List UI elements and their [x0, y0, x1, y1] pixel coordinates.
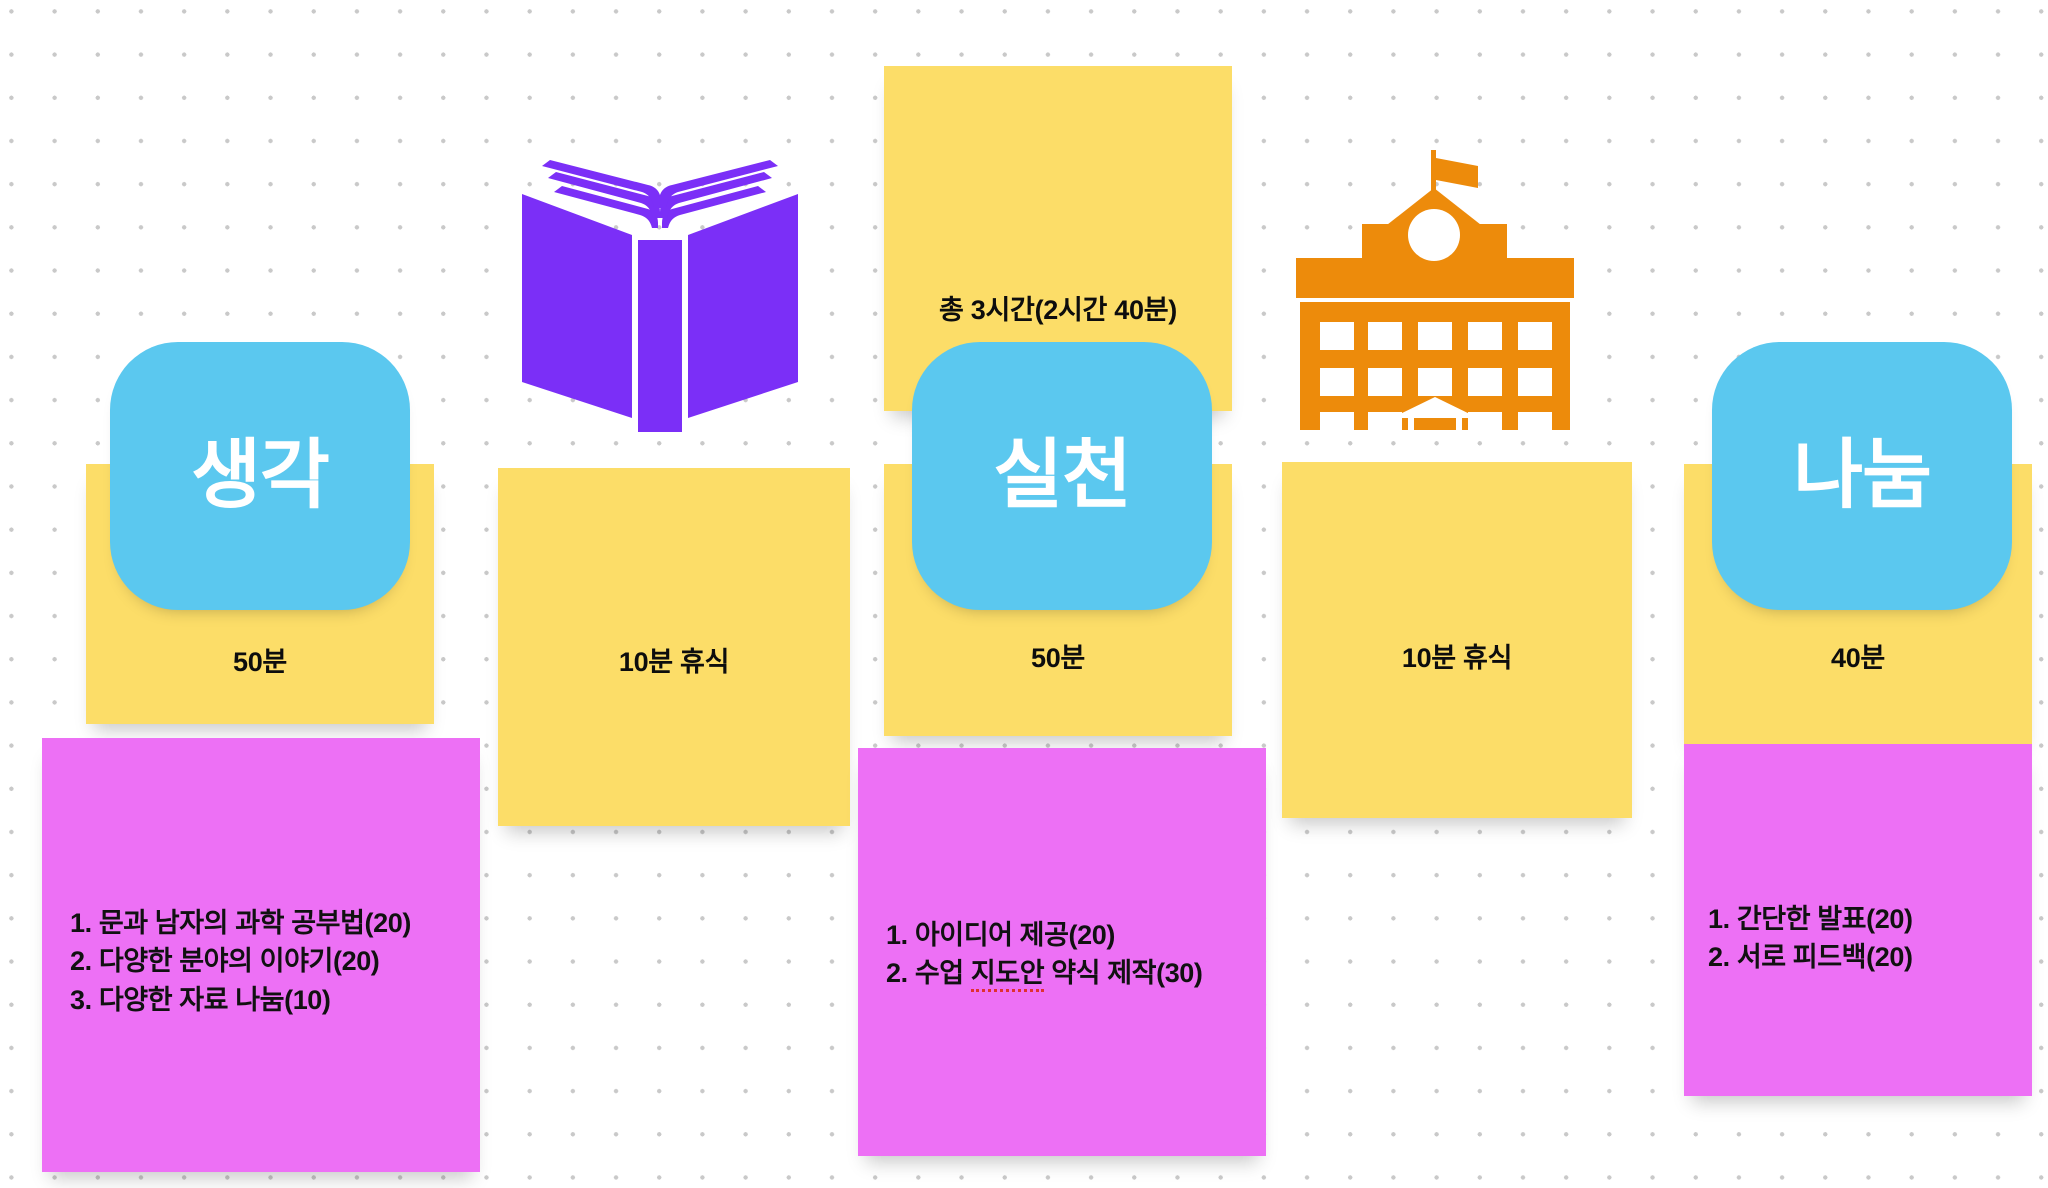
note-lines-3: 1. 아이디어 제공(20) 2. 수업 지도안 약식 제작(30): [886, 916, 1254, 993]
badge-sharing[interactable]: 나눔: [1712, 342, 2012, 610]
duration-label-3: 50분: [884, 636, 1232, 675]
note-card-3[interactable]: 1. 아이디어 제공(20) 2. 수업 지도안 약식 제작(30): [858, 748, 1266, 1156]
badge-label: 생각: [191, 438, 329, 514]
duration-label-5: 40분: [1684, 636, 2032, 675]
break-card-2[interactable]: 10분 휴식: [1282, 462, 1632, 818]
badge-label: 실천: [993, 438, 1131, 514]
duration-label-4: 10분 휴식: [1282, 636, 1632, 675]
total-duration-label: 총 3시간(2시간 40분): [884, 288, 1232, 327]
break-card-1[interactable]: 10분 휴식: [498, 468, 850, 826]
note-card-5[interactable]: 1. 간단한 발표(20) 2. 서로 피드백(20): [1684, 744, 2032, 1096]
badge-practice[interactable]: 실천: [912, 342, 1212, 610]
open-book-icon: [520, 160, 800, 435]
school-building-icon: [1290, 150, 1580, 430]
note-line: 1. 간단한 발표(20): [1708, 900, 2020, 938]
note-card-1[interactable]: 1. 문과 남자의 과학 공부법(20) 2. 다양한 분야의 이야기(20) …: [42, 738, 480, 1172]
note-line: 1. 문과 남자의 과학 공부법(20): [70, 904, 468, 942]
note-line: 2. 서로 피드백(20): [1708, 938, 2020, 976]
note-line-with-spellcheck: 2. 수업 지도안 약식 제작(30): [886, 954, 1254, 992]
note-line: 3. 다양한 자료 나눔(10): [70, 981, 468, 1019]
note-line: 1. 아이디어 제공(20): [886, 916, 1254, 954]
badge-thinking[interactable]: 생각: [110, 342, 410, 610]
note-lines-5: 1. 간단한 발표(20) 2. 서로 피드백(20): [1708, 900, 2020, 977]
note-line: 2. 다양한 분야의 이야기(20): [70, 942, 468, 980]
badge-label: 나눔: [1793, 438, 1931, 514]
note-line-pre: 2. 수업: [886, 958, 971, 988]
sticky-note-board: 총 3시간(2시간 40분): [0, 0, 2048, 1188]
note-line-post: 약식 제작(30): [1044, 958, 1202, 988]
misspelled-word: 지도안: [971, 958, 1044, 992]
duration-label-2: 10분 휴식: [498, 640, 850, 679]
duration-label-1: 50분: [86, 640, 434, 679]
note-lines-1: 1. 문과 남자의 과학 공부법(20) 2. 다양한 분야의 이야기(20) …: [70, 904, 468, 1019]
